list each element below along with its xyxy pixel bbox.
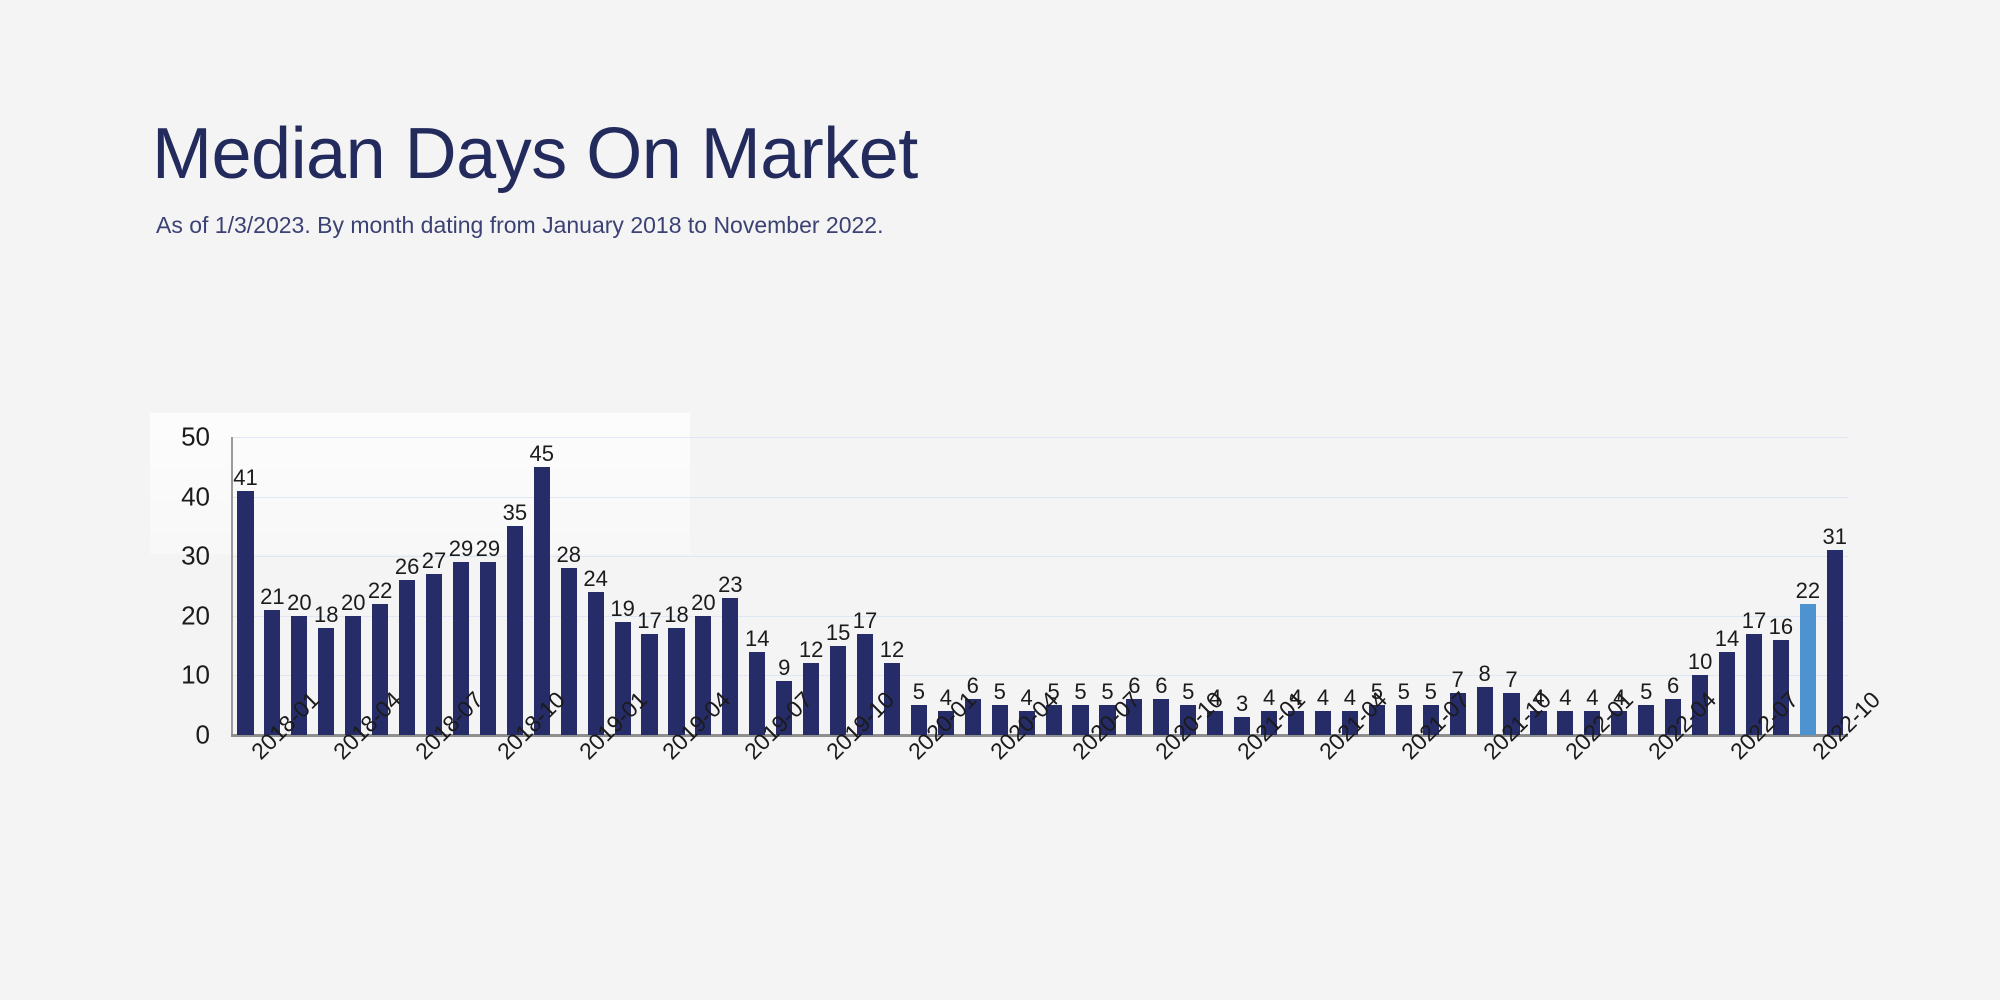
bar-value-label: 35 [503, 502, 527, 524]
x-tick-slot [506, 742, 533, 892]
x-tick-slot: 2022-01 [1547, 742, 1574, 892]
bar-slot: 29 [474, 437, 501, 735]
x-tick-slot [917, 742, 944, 892]
bar-value-label: 29 [449, 538, 473, 560]
x-tick-slot [780, 742, 807, 892]
bar-value-label: 4 [1317, 687, 1329, 709]
bar-value-label: 29 [476, 538, 500, 560]
bar[interactable]: 35 [507, 526, 523, 735]
x-tick-slot [1245, 742, 1272, 892]
y-axis-tick-label: 20 [140, 600, 210, 631]
bar-value-label: 8 [1478, 663, 1490, 685]
bar[interactable]: 41 [237, 491, 253, 735]
bar-value-label: 12 [880, 639, 904, 661]
x-tick-slot: 2019-04 [643, 742, 670, 892]
bar[interactable]: 5 [1396, 705, 1412, 735]
bar-slot: 24 [582, 437, 609, 735]
bar[interactable]: 24 [588, 592, 604, 735]
x-tick-slot: 2019-10 [807, 742, 834, 892]
bar-slot: 14 [744, 437, 771, 735]
x-tick-slot [1656, 742, 1683, 892]
bar-slot: 18 [663, 437, 690, 735]
bar-value-label: 26 [395, 556, 419, 578]
bar[interactable]: 17 [641, 634, 657, 735]
x-tick-slot [698, 742, 725, 892]
bar-value-label: 22 [368, 580, 392, 602]
bar-slot: 4 [1336, 437, 1363, 735]
x-tick-slot [1355, 742, 1382, 892]
bar-slot: 6 [1148, 437, 1175, 735]
bar-slot: 18 [313, 437, 340, 735]
x-tick-slot: 2019-07 [725, 742, 752, 892]
bar-value-label: 24 [583, 568, 607, 590]
x-tick-slot [862, 742, 889, 892]
bar-value-label: 5 [1182, 681, 1194, 703]
bar-value-label: 5 [1640, 681, 1652, 703]
bar-value-label: 27 [422, 550, 446, 572]
x-tick-slot: 2021-10 [1465, 742, 1492, 892]
bar-slot: 7 [1498, 437, 1525, 735]
bar-slot: 27 [421, 437, 448, 735]
bar-value-label: 4 [1586, 687, 1598, 709]
x-tick-slot [1492, 742, 1519, 892]
bar-slot: 4 [1256, 437, 1283, 735]
bar-slot: 28 [555, 437, 582, 735]
x-tick-slot: 2018-04 [314, 742, 341, 892]
x-tick-slot [1191, 742, 1218, 892]
bar-value-label: 22 [1796, 580, 1820, 602]
bar-slot: 17 [852, 437, 879, 735]
bar-slot: 5 [1175, 437, 1202, 735]
bar-slot: 17 [1741, 437, 1768, 735]
bar-value-label: 45 [530, 443, 554, 465]
y-axis-tick-label: 30 [140, 541, 210, 572]
x-tick-slot [1519, 742, 1546, 892]
bar-value-label: 12 [799, 639, 823, 661]
bar-value-label: 9 [778, 657, 790, 679]
bar-slot: 8 [1471, 437, 1498, 735]
bar-value-label: 10 [1688, 651, 1712, 673]
x-tick-slot [1410, 742, 1437, 892]
bar-slot: 15 [825, 437, 852, 735]
bar-value-label: 17 [853, 610, 877, 632]
x-tick-slot: 2020-10 [1136, 742, 1163, 892]
x-tick-slot [1026, 742, 1053, 892]
bar-slot: 26 [394, 437, 421, 735]
x-tick-slot: 2020-04 [972, 742, 999, 892]
x-tick-slot [533, 742, 560, 892]
x-tick-slot: 2020-01 [889, 742, 916, 892]
bar-value-label: 28 [556, 544, 580, 566]
bar-slot: 20 [340, 437, 367, 735]
bar-slot: 5 [1633, 437, 1660, 735]
bar-slot: 4 [1310, 437, 1337, 735]
x-axis-ticks: 2018-012018-042018-072018-102019-012019-… [232, 742, 1848, 892]
bar-value-label: 7 [1505, 669, 1517, 691]
bar-slot: 41 [232, 437, 259, 735]
x-tick-slot [259, 742, 286, 892]
chart-container: 01020304050 4121201820222627292935452824… [0, 0, 2000, 1000]
bar-value-label: 19 [610, 598, 634, 620]
bar-value-label: 31 [1823, 526, 1847, 548]
bar[interactable]: 31 [1827, 550, 1843, 735]
bar[interactable]: 18 [318, 628, 334, 735]
bar-value-label: 41 [233, 467, 257, 489]
bar-value-label: 21 [260, 586, 284, 608]
bar-slot: 17 [636, 437, 663, 735]
x-tick-slot [1821, 742, 1848, 892]
bar-value-label: 5 [1425, 681, 1437, 703]
bar-slot: 4 [1013, 437, 1040, 735]
x-tick-slot [342, 742, 369, 892]
bar-value-label: 6 [1155, 675, 1167, 697]
bar-slot: 35 [501, 437, 528, 735]
x-tick-slot: 2021-07 [1382, 742, 1409, 892]
x-tick-slot: 2021-04 [1300, 742, 1327, 892]
bar[interactable]: 27 [426, 574, 442, 735]
x-tick-slot: 2018-10 [479, 742, 506, 892]
x-tick-slot: 2018-07 [396, 742, 423, 892]
x-tick-slot [1437, 742, 1464, 892]
y-axis-tick-label: 50 [140, 422, 210, 453]
x-tick-slot: 2018-01 [232, 742, 259, 892]
x-tick-slot: 2022-10 [1793, 742, 1820, 892]
bar[interactable]: 18 [668, 628, 684, 735]
x-tick-slot [287, 742, 314, 892]
x-tick-slot: 2022-04 [1629, 742, 1656, 892]
x-tick-slot [999, 742, 1026, 892]
x-tick-slot: 2022-07 [1711, 742, 1738, 892]
x-tick-slot: 2019-01 [561, 742, 588, 892]
bar-slot: 31 [1821, 437, 1848, 735]
bar-slot: 5 [1417, 437, 1444, 735]
x-tick-slot [1602, 742, 1629, 892]
bar-slot: 21 [259, 437, 286, 735]
bar[interactable]: 26 [399, 580, 415, 735]
bar[interactable]: 5 [1638, 705, 1654, 735]
bar-value-label: 15 [826, 622, 850, 644]
x-tick-slot [1574, 742, 1601, 892]
bar-value-label: 5 [1074, 681, 1086, 703]
bar-slot: 4 [1552, 437, 1579, 735]
bar-value-label: 5 [994, 681, 1006, 703]
bar-value-label: 18 [664, 604, 688, 626]
bar-slot: 4 [1579, 437, 1606, 735]
x-tick-slot [588, 742, 615, 892]
bar-value-label: 5 [1398, 681, 1410, 703]
y-axis-tick-label: 40 [140, 481, 210, 512]
bar-slot: 5 [1390, 437, 1417, 735]
bar-value-label: 20 [287, 592, 311, 614]
bar-slot: 5 [1067, 437, 1094, 735]
x-tick-slot [1328, 742, 1355, 892]
x-tick-slot [1163, 742, 1190, 892]
bar-slot: 5 [1094, 437, 1121, 735]
x-tick-slot [835, 742, 862, 892]
bar-value-label: 17 [1742, 610, 1766, 632]
bar-value-label: 3 [1236, 693, 1248, 715]
bar-value-label: 14 [745, 628, 769, 650]
bar-value-label: 4 [1559, 687, 1571, 709]
x-tick-slot [670, 742, 697, 892]
x-tick-slot [615, 742, 642, 892]
bar-value-label: 16 [1769, 616, 1793, 638]
bar-slot: 14 [1714, 437, 1741, 735]
bar[interactable]: 4 [1557, 711, 1573, 735]
bar-highlighted[interactable]: 22 [1800, 604, 1816, 735]
x-tick-slot [1109, 742, 1136, 892]
bar-value-label: 20 [341, 592, 365, 614]
bar-slot: 22 [1794, 437, 1821, 735]
bar-slot: 4 [932, 437, 959, 735]
x-tick-slot: 2021-01 [1218, 742, 1245, 892]
bar[interactable]: 14 [1719, 652, 1735, 735]
y-axis-tick-label: 10 [140, 660, 210, 691]
bar-slot: 5 [986, 437, 1013, 735]
x-tick-slot [1738, 742, 1765, 892]
bar-value-label: 20 [691, 592, 715, 614]
x-tick-slot [1273, 742, 1300, 892]
x-tick-slot [1081, 742, 1108, 892]
x-tick-slot [424, 742, 451, 892]
x-tick-slot [1766, 742, 1793, 892]
bar[interactable]: 8 [1477, 687, 1493, 735]
bar-value-label: 14 [1715, 628, 1739, 650]
bar-value-label: 23 [718, 574, 742, 596]
bar-slot: 6 [1660, 437, 1687, 735]
x-tick-slot [451, 742, 478, 892]
bar-value-label: 17 [637, 610, 661, 632]
x-tick-slot: 2020-07 [1054, 742, 1081, 892]
x-tick-slot [944, 742, 971, 892]
bar-value-label: 6 [1667, 675, 1679, 697]
bar-value-label: 18 [314, 604, 338, 626]
y-axis-tick-label: 0 [140, 720, 210, 751]
bar-value-label: 5 [913, 681, 925, 703]
x-tick-slot [369, 742, 396, 892]
x-tick-slot [752, 742, 779, 892]
bar-slot: 3 [1229, 437, 1256, 735]
x-tick-slot [1684, 742, 1711, 892]
bar-slot: 5 [905, 437, 932, 735]
